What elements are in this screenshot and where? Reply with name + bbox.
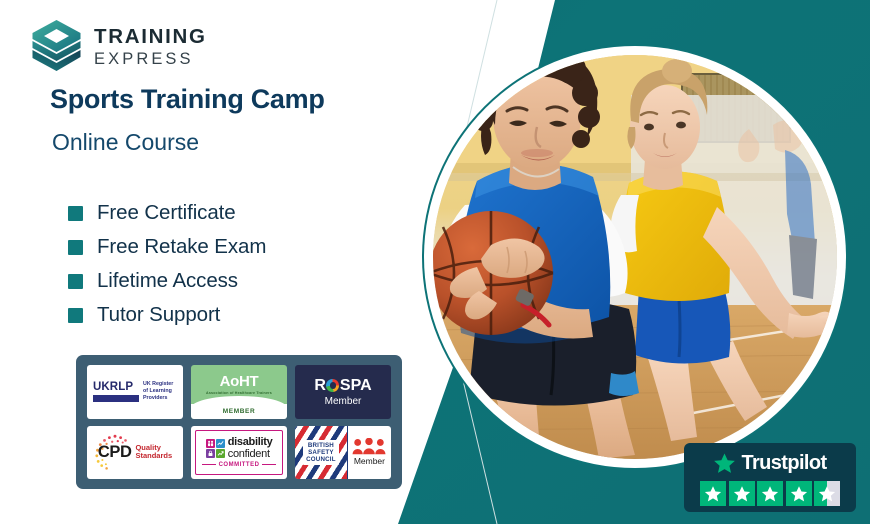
rating-star-1 xyxy=(700,481,726,506)
bsc-line3: COUNCIL xyxy=(306,456,336,463)
bsc-line1: BRITISH xyxy=(306,442,336,449)
trustpilot-logo: Trustpilot xyxy=(713,452,826,475)
trustpilot-star-rating xyxy=(700,481,840,506)
badge-cpd: CPD Quality Standards xyxy=(87,426,183,480)
dc-rule-left xyxy=(202,464,216,465)
feature-list: Free Certificate Free Retake Exam Lifeti… xyxy=(68,196,266,332)
course-hero-photo-frame xyxy=(424,46,846,468)
brand-logo[interactable]: TRAINING EXPRESS xyxy=(30,19,207,75)
aoht-wordmark: AoHT xyxy=(220,373,259,390)
rospa-status: Member xyxy=(325,396,362,407)
trustpilot-wordmark: Trustpilot xyxy=(741,452,826,475)
course-title: Sports Training Camp xyxy=(50,84,325,115)
rating-star-5-half xyxy=(814,481,840,506)
aoht-status: MEMBER xyxy=(223,408,256,415)
bsc-people-group-icon xyxy=(351,438,387,455)
bsc-status: Member xyxy=(354,456,385,466)
dc-growth-icon xyxy=(216,449,225,458)
bullet-square-icon xyxy=(68,274,83,289)
ukrlp-line1: UK Register xyxy=(143,381,173,388)
bsc-line2: SAFETY xyxy=(306,449,336,456)
bsc-striped-emblem-icon: BRITISH SAFETY COUNCIL xyxy=(295,426,347,480)
bullet-square-icon xyxy=(68,308,83,323)
rospa-wordmark: R SPA xyxy=(314,377,371,395)
rating-star-4 xyxy=(786,481,812,506)
badge-ukrlp: UKRLP UK Register of Learning Providers xyxy=(87,365,183,419)
badge-aoht: AoHT Association of Healthcare Trainers … xyxy=(191,365,287,419)
feature-item: Lifetime Access xyxy=(68,264,266,298)
rospa-letter-r: R xyxy=(314,377,326,395)
trustpilot-star-icon xyxy=(713,452,736,475)
feature-item: Free Certificate xyxy=(68,196,266,230)
brand-name-line1: TRAINING xyxy=(94,27,207,48)
trustpilot-rating-widget[interactable]: Trustpilot xyxy=(684,443,856,512)
bullet-square-icon xyxy=(68,240,83,255)
dc-lock-icon xyxy=(206,449,215,458)
rating-star-2 xyxy=(729,481,755,506)
rospa-colour-wheel-icon xyxy=(326,379,339,392)
badge-british-safety-council: BRITISH SAFETY COUNCIL Member xyxy=(295,426,391,480)
dc-chart-icon xyxy=(216,439,225,448)
feature-item: Tutor Support xyxy=(68,298,266,332)
dc-person-icon xyxy=(206,439,215,448)
feature-label: Free Certificate xyxy=(97,201,236,225)
badge-rospa: R SPA Member xyxy=(295,365,391,419)
promo-banner: TRAINING EXPRESS Sports Training Camp On… xyxy=(0,0,870,524)
dc-rule-right xyxy=(262,464,276,465)
course-subtitle: Online Course xyxy=(52,129,199,156)
disability-confident-word2: confident xyxy=(228,449,273,460)
aoht-tagline: Association of Healthcare Trainers xyxy=(206,391,272,395)
feature-label: Tutor Support xyxy=(97,303,220,327)
cpd-line2: Standards xyxy=(135,452,172,461)
ukrlp-bar-icon xyxy=(93,395,139,402)
ukrlp-wordmark: UKRLP xyxy=(93,381,133,393)
feature-item: Free Retake Exam xyxy=(68,230,266,264)
rospa-letters-spa: SPA xyxy=(340,377,372,395)
badge-disability-confident: disability confident COMMITTED xyxy=(191,426,287,480)
disability-confident-status: COMMITTED xyxy=(219,462,260,468)
disability-confident-word1: disability xyxy=(228,437,273,448)
rating-star-3 xyxy=(757,481,783,506)
feature-label: Lifetime Access xyxy=(97,269,238,293)
accreditation-badges-panel: UKRLP UK Register of Learning Providers … xyxy=(76,355,402,489)
ukrlp-line3: Providers xyxy=(143,395,173,402)
training-express-cube-logo-icon xyxy=(30,19,83,75)
ukrlp-line2: of Learning xyxy=(143,388,173,395)
bullet-square-icon xyxy=(68,206,83,221)
cpd-wordmark: CPD xyxy=(98,443,132,462)
disability-confident-icon-grid xyxy=(206,439,225,458)
feature-label: Free Retake Exam xyxy=(97,235,266,259)
brand-name-line2: EXPRESS xyxy=(94,51,207,68)
basketball-players-photo xyxy=(433,55,837,459)
